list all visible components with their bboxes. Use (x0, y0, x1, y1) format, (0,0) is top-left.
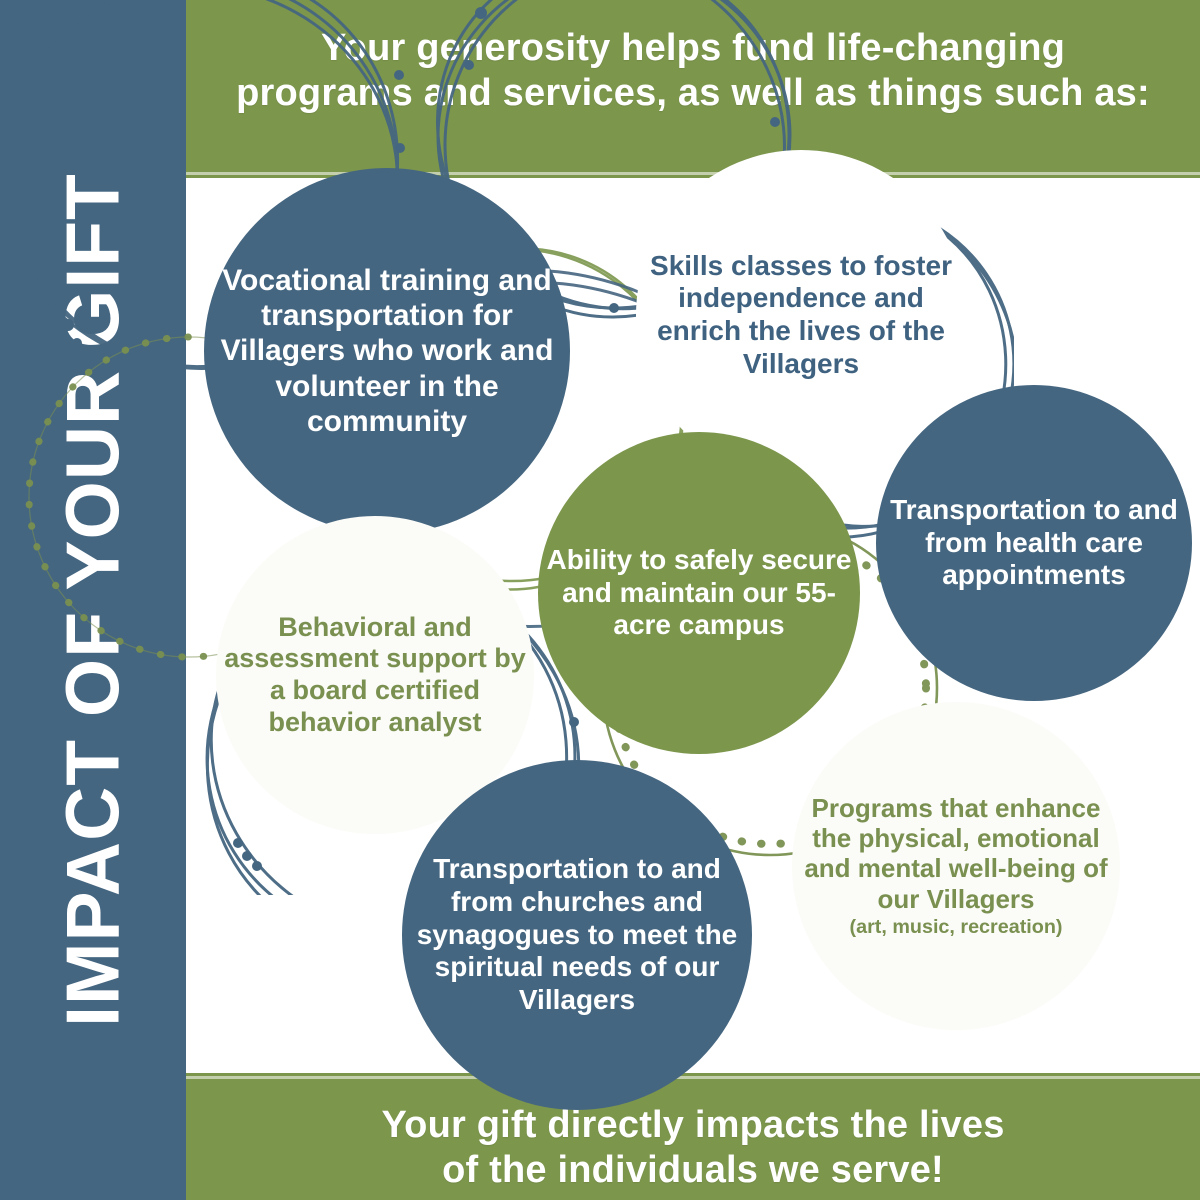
bubble-campus-maintenance-label: Ability to safely secure and maintain ou… (538, 544, 860, 642)
footer-line-1: Your gift directly impacts the lives (212, 1103, 1174, 1148)
bubble-wellbeing-programs[interactable]: Programs that enhance the physical, emot… (792, 702, 1120, 1030)
bubble-skills-classes[interactable]: Skills classes to foster independence an… (636, 150, 966, 480)
bubble-spiritual-transportation[interactable]: Transportation to and from churches and … (402, 760, 752, 1110)
header-line-1: Your generosity helps fund life-changing (212, 26, 1174, 71)
header-text: Your generosity helps fund life-changing… (186, 26, 1200, 116)
footer-text: Your gift directly impacts the lives of … (186, 1103, 1200, 1193)
bubble-vocational-training[interactable]: Vocational training and transportation f… (204, 168, 570, 534)
bubble-wellbeing-programs-subtext: (art, music, recreation) (798, 916, 1114, 939)
bubble-vocational-training-label: Vocational training and transportation f… (204, 263, 570, 438)
header-line-2: programs and services, as well as things… (212, 71, 1174, 116)
footer-band: Your gift directly impacts the lives of … (186, 1073, 1200, 1200)
bubble-health-care-transportation-label: Transportation to and from health care a… (876, 494, 1192, 592)
bubble-spiritual-transportation-label: Transportation to and from churches and … (402, 853, 752, 1017)
bubble-behavioral-support-label: Behavioral and assessment support by a b… (216, 612, 534, 738)
footer-line-2: of the individuals we serve! (212, 1148, 1174, 1193)
bubble-health-care-transportation[interactable]: Transportation to and from health care a… (876, 385, 1192, 701)
sidebar: IMPACT OF YOUR GIFT (0, 0, 186, 1200)
bubble-campus-maintenance[interactable]: Ability to safely secure and maintain ou… (538, 432, 860, 754)
header-band: Your generosity helps fund life-changing… (186, 0, 1200, 178)
page-title: IMPACT OF YOUR GIFT (56, 173, 131, 1027)
bubble-skills-classes-label: Skills classes to foster independence an… (636, 250, 966, 381)
bubble-wellbeing-programs-label: Programs that enhance the physical, emot… (804, 793, 1107, 914)
infographic-poster: IMPACT OF YOUR GIFT Your generosity help… (0, 0, 1200, 1200)
